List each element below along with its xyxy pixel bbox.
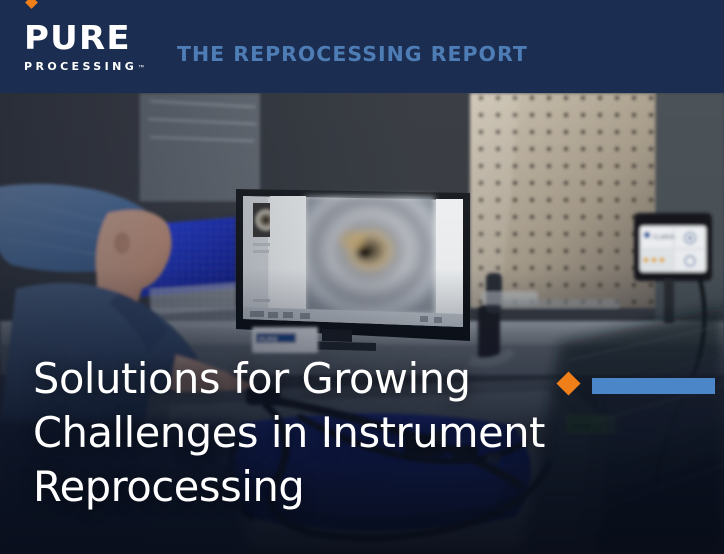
- pure-processing-logo[interactable]: PURE PROCESSING ™: [24, 21, 157, 72]
- headline-line-1-text: Solutions for Growing: [33, 354, 471, 403]
- cover-headline: Solutions for Growing Challenges in Inst…: [33, 352, 693, 514]
- headline-line-3: Reprocessing: [33, 460, 693, 514]
- headline-line-1: Solutions for Growing: [33, 352, 693, 406]
- report-cover: PURE PROCESSING ™ THE REPROCESSING REPOR…: [0, 0, 724, 554]
- logo-sub-lockup: PROCESSING ™: [24, 61, 157, 72]
- svg-text:PURE: PURE: [259, 336, 278, 344]
- header-bar: PURE PROCESSING ™ THE REPROCESSING REPOR…: [0, 0, 724, 93]
- trademark-icon: ™: [138, 65, 144, 71]
- logo-sub-text: PROCESSING: [24, 61, 137, 72]
- accent-bar: [592, 378, 715, 394]
- headline-line-2: Challenges in Instrument: [33, 406, 693, 460]
- svg-text:CLARIS: CLARIS: [653, 234, 675, 241]
- logo-brand-text: PURE: [24, 21, 161, 54]
- diamond-accent-icon: [25, 0, 38, 9]
- publication-title: THE REPROCESSING REPORT: [177, 42, 528, 66]
- accent-diamond-icon: [556, 371, 580, 395]
